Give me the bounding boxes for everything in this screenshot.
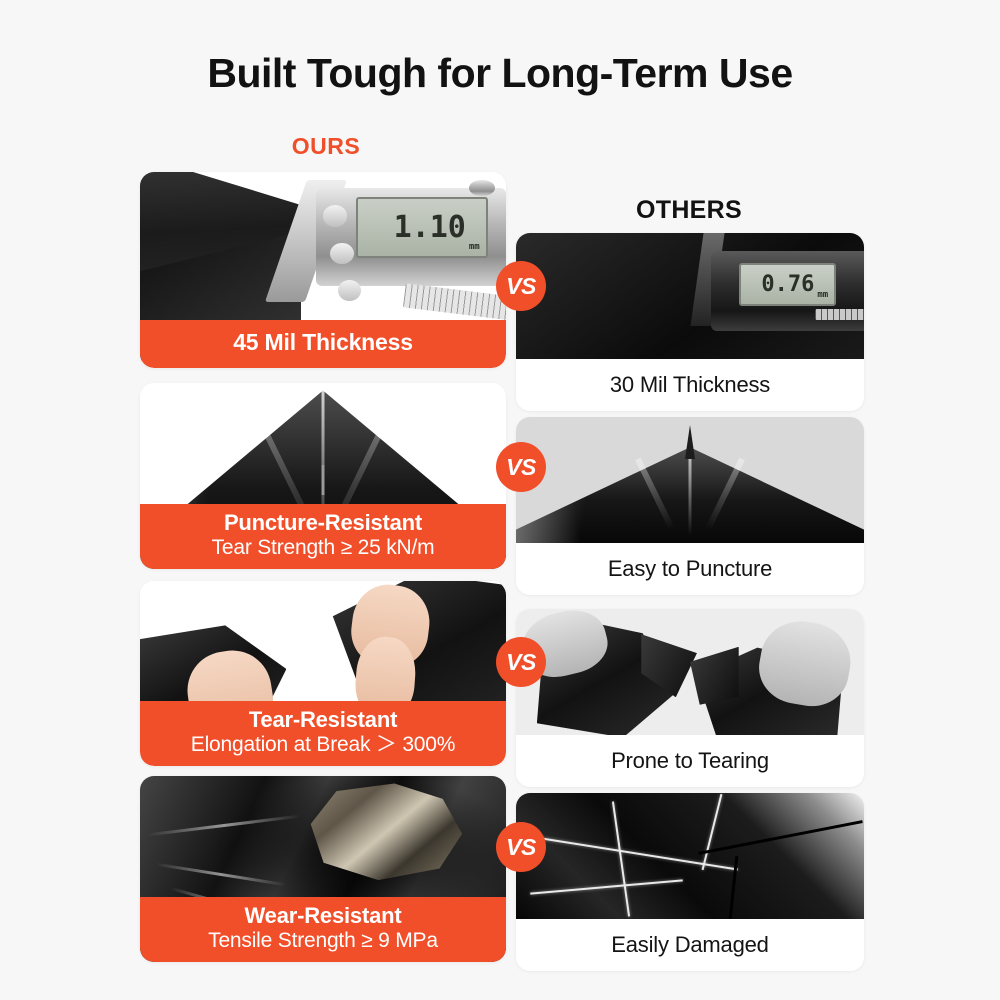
others-card-puncture[interactable]: Easy to Puncture: [516, 417, 864, 595]
others-caption-thickness: 30 Mil Thickness: [516, 359, 864, 411]
spike-piercing-membrane: [685, 425, 695, 459]
column-header-others: OTHERS: [589, 196, 789, 225]
caliper-scale: [815, 309, 864, 320]
others-card-wear[interactable]: Easily Damaged: [516, 793, 864, 971]
ours-headline: Tear-Resistant: [146, 708, 500, 733]
caliper-unit: mm: [817, 290, 828, 300]
vs-badge-row-4: VS: [496, 822, 546, 872]
ours-card-tear[interactable]: Tear-Resistant Elongation at Break ＞ 300…: [140, 581, 506, 766]
column-header-ours: OURS: [226, 133, 426, 160]
ours-card-puncture[interactable]: Puncture-Resistant Tear Strength ≥ 25 kN…: [140, 383, 506, 569]
ours-photo-thickness: 1.10mm 45 Mil Thickness: [140, 172, 506, 368]
ours-banner-thickness: 45 Mil Thickness: [140, 320, 506, 368]
vs-badge-row-3: VS: [496, 637, 546, 687]
others-photo-puncture: [516, 417, 864, 543]
vs-badge-row-1: VS: [496, 261, 546, 311]
ours-banner-puncture: Puncture-Resistant Tear Strength ≥ 25 kN…: [140, 504, 506, 569]
caliper-lcd: 1.10mm: [356, 197, 488, 258]
others-photo-wear: [516, 793, 864, 919]
vs-badge-row-2: VS: [496, 442, 546, 492]
ours-card-thickness[interactable]: 1.10mm 45 Mil Thickness: [140, 172, 506, 368]
others-caption-tear: Prone to Tearing: [516, 735, 864, 787]
others-caption-wear: Easily Damaged: [516, 919, 864, 971]
caliper-lcd: 0.76mm: [739, 263, 836, 306]
others-photo-tear: [516, 609, 864, 735]
cracked-surface: [516, 793, 864, 919]
ours-subline: Tear Strength ≥ 25 kN/m: [146, 536, 500, 560]
others-photo-thickness: 0.76mm: [516, 233, 864, 359]
caliper-unit: mm: [469, 242, 480, 252]
caliper-button-one: [323, 205, 347, 227]
cone-highlight-center: [689, 447, 692, 535]
infographic-page: Built Tough for Long-Term Use OURS OTHER…: [0, 0, 1000, 1000]
ours-headline: Wear-Resistant: [146, 904, 500, 929]
ours-card-wear[interactable]: Wear-Resistant Tensile Strength ≥ 9 MPa: [140, 776, 506, 962]
ours-photo-puncture: Puncture-Resistant Tear Strength ≥ 25 kN…: [140, 383, 506, 569]
ours-photo-tear: Tear-Resistant Elongation at Break ＞ 300…: [140, 581, 506, 766]
ours-banner-tear: Tear-Resistant Elongation at Break ＞ 300…: [140, 701, 506, 766]
nail-shaft: [322, 465, 325, 495]
others-card-thickness[interactable]: 0.76mm 30 Mil Thickness: [516, 233, 864, 411]
others-caption-puncture: Easy to Puncture: [516, 543, 864, 595]
caliper-thumb-wheel: [469, 180, 495, 196]
ours-banner-wear: Wear-Resistant Tensile Strength ≥ 9 MPa: [140, 897, 506, 962]
caliper-button-two: [330, 243, 354, 265]
ours-headline: Puncture-Resistant: [146, 511, 500, 536]
others-card-tear[interactable]: Prone to Tearing: [516, 609, 864, 787]
ours-subline: Elongation at Break ＞ 300%: [146, 733, 500, 757]
ours-headline: 45 Mil Thickness: [146, 327, 500, 359]
caliper-reading: 0.76: [761, 272, 814, 297]
page-title: Built Tough for Long-Term Use: [0, 50, 1000, 97]
caliper-reading: 1.10: [394, 210, 466, 245]
ours-photo-wear: Wear-Resistant Tensile Strength ≥ 9 MPa: [140, 776, 506, 962]
ours-subline: Tensile Strength ≥ 9 MPa: [146, 929, 500, 953]
